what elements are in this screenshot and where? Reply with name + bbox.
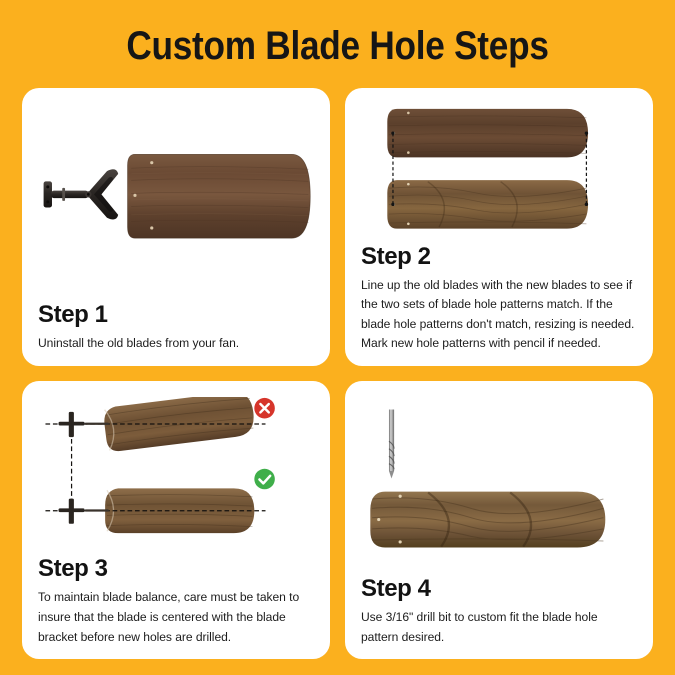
red-x-badge-icon	[254, 398, 275, 419]
step-1-illustration	[38, 110, 314, 286]
blade-bracket-icon	[44, 169, 119, 219]
step-2-artwork	[361, 104, 637, 234]
step-card-4[interactable]: Step 4 Use 3/16" drill bit to custom fit…	[345, 381, 653, 659]
step-4-body: Use 3/16" drill bit to custom fit the bl…	[361, 608, 637, 647]
crosshair-marker-icon	[59, 412, 109, 524]
step-2-heading: Step 2	[361, 244, 637, 269]
steps-grid: Step 1 Uninstall the old blades from you…	[22, 88, 653, 659]
fan-blade-oak-icon	[370, 492, 605, 548]
step-1-body: Uninstall the old blades from your fan.	[38, 334, 314, 354]
infographic-poster: Custom Blade Hole Steps	[0, 0, 675, 675]
step-card-1[interactable]: Step 1 Uninstall the old blades from you…	[22, 88, 330, 366]
step-card-2[interactable]: Step 2 Line up the old blades with the n…	[345, 88, 653, 366]
step-2-body: Line up the old blades with the new blad…	[361, 276, 637, 354]
green-check-badge-icon	[254, 469, 275, 490]
step-4-heading: Step 4	[361, 576, 637, 601]
step-4-artwork	[361, 395, 637, 566]
step-3-body: To maintain blade balance, care must be …	[38, 588, 314, 647]
step-1-heading: Step 1	[38, 302, 314, 327]
step-card-3[interactable]: Step 3 To maintain blade balance, care m…	[22, 381, 330, 659]
fan-blade-new-icon	[387, 180, 588, 229]
step-4-illustration	[361, 395, 637, 566]
drill-bit-icon	[389, 410, 394, 479]
step-3-illustration	[38, 397, 314, 546]
blade-misaligned	[103, 397, 257, 453]
step-1-artwork	[38, 110, 314, 286]
fan-blade-dark-walnut-icon	[128, 154, 311, 238]
fan-blade-old-icon	[387, 109, 588, 158]
page-title: Custom Blade Hole Steps	[60, 0, 615, 88]
step-3-heading: Step 3	[38, 556, 314, 581]
step-2-illustration	[361, 104, 637, 234]
step-3-artwork	[38, 397, 314, 546]
